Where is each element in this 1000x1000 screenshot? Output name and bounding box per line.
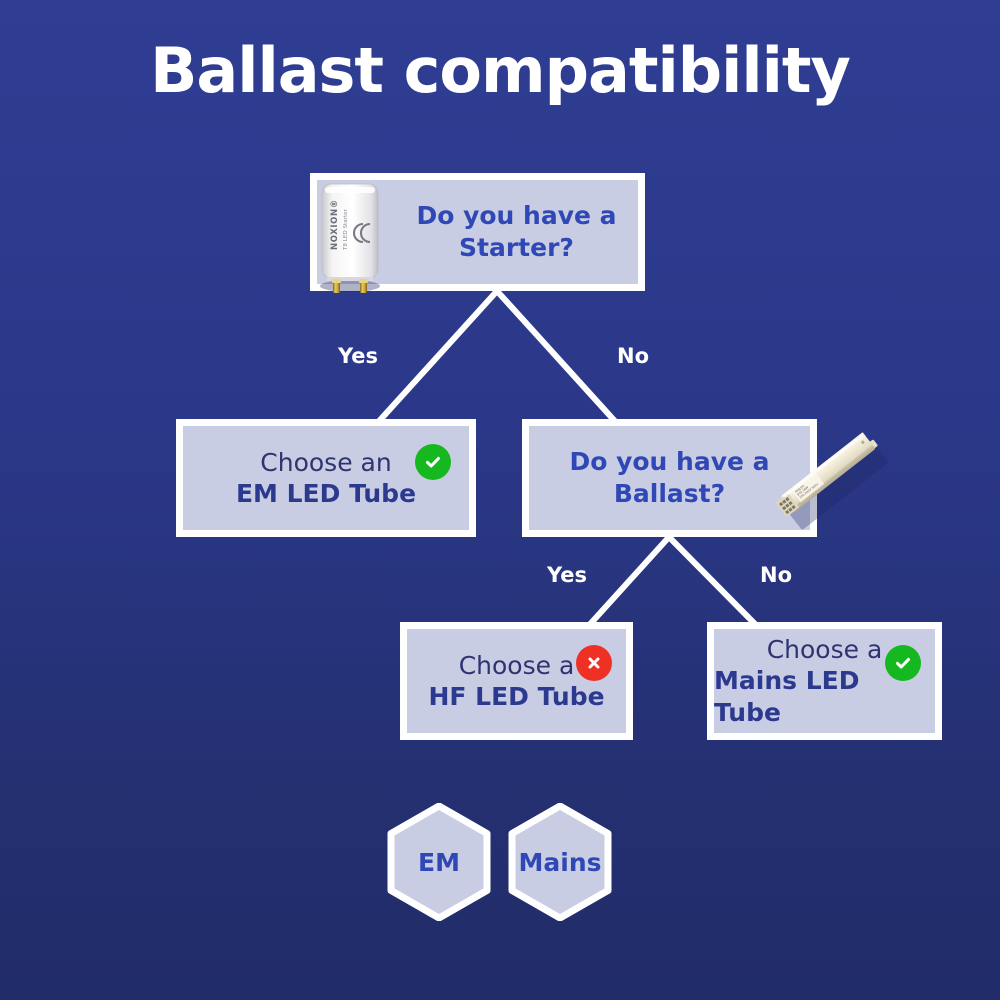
edge-label-starter-yes: Yes bbox=[338, 344, 378, 368]
node-hf-line2: HF LED Tube bbox=[428, 681, 604, 712]
check-circle-icon bbox=[885, 645, 921, 681]
edge-label-starter-no: No bbox=[617, 344, 649, 368]
page-title: Ballast compatibility bbox=[0, 34, 1000, 107]
node-ballast-fill: Do you have a Ballast? bbox=[529, 426, 810, 530]
node-mains-line1: Choose a bbox=[767, 634, 883, 665]
node-mains-led-tube[interactable]: Choose a Mains LED Tube bbox=[707, 622, 942, 740]
node-mains-fill: Choose a Mains LED Tube bbox=[714, 629, 935, 733]
svg-text:T8 LED Starter: T8 LED Starter bbox=[343, 208, 349, 251]
connector-ballast-no bbox=[669, 537, 753, 622]
svg-text:NOXION®: NOXION® bbox=[330, 199, 340, 250]
node-hf-fill: Choose a HF LED Tube bbox=[407, 629, 626, 733]
node-em-line1: Choose an bbox=[260, 447, 391, 478]
node-em-led-tube[interactable]: Choose an EM LED Tube bbox=[176, 419, 476, 537]
connector-starter-no bbox=[497, 291, 613, 419]
legend-hex-em[interactable]: EM bbox=[387, 803, 491, 921]
node-em-line2: EM LED Tube bbox=[236, 478, 416, 509]
edge-label-ballast-no: No bbox=[760, 563, 792, 587]
edge-label-ballast-yes: Yes bbox=[547, 563, 587, 587]
node-em-fill: Choose an EM LED Tube bbox=[183, 426, 469, 530]
connector-ballast-yes bbox=[592, 537, 669, 622]
legend-hex-mains[interactable]: Mains bbox=[508, 803, 612, 921]
node-ballast-question: Do you have a Ballast? bbox=[569, 446, 769, 511]
node-ballast-question-line2: Ballast? bbox=[614, 479, 725, 508]
node-hf-led-tube[interactable]: Choose a HF LED Tube bbox=[400, 622, 633, 740]
x-circle-icon bbox=[576, 645, 612, 681]
node-hf-line1: Choose a bbox=[459, 650, 575, 681]
t8-led-starter-image: NOXION® T8 LED Starter bbox=[313, 178, 387, 296]
legend-hex-mains-label: Mains bbox=[508, 803, 612, 921]
node-starter-question-line2: Starter? bbox=[459, 233, 574, 262]
legend-hex-em-label: EM bbox=[387, 803, 491, 921]
infographic-canvas: Ballast compatibility Do you have a Star… bbox=[0, 0, 1000, 1000]
connector-starter-yes bbox=[381, 291, 497, 419]
node-starter-question: Do you have a Starter? bbox=[416, 200, 616, 265]
fluorescent-ballast-image: PHILIPS BTA 36W 220-240V 50Hz bbox=[770, 418, 900, 548]
node-starter-question-line1: Do you have a bbox=[416, 201, 616, 230]
check-circle-icon bbox=[415, 444, 451, 480]
node-ballast-question-line1: Do you have a bbox=[569, 447, 769, 476]
